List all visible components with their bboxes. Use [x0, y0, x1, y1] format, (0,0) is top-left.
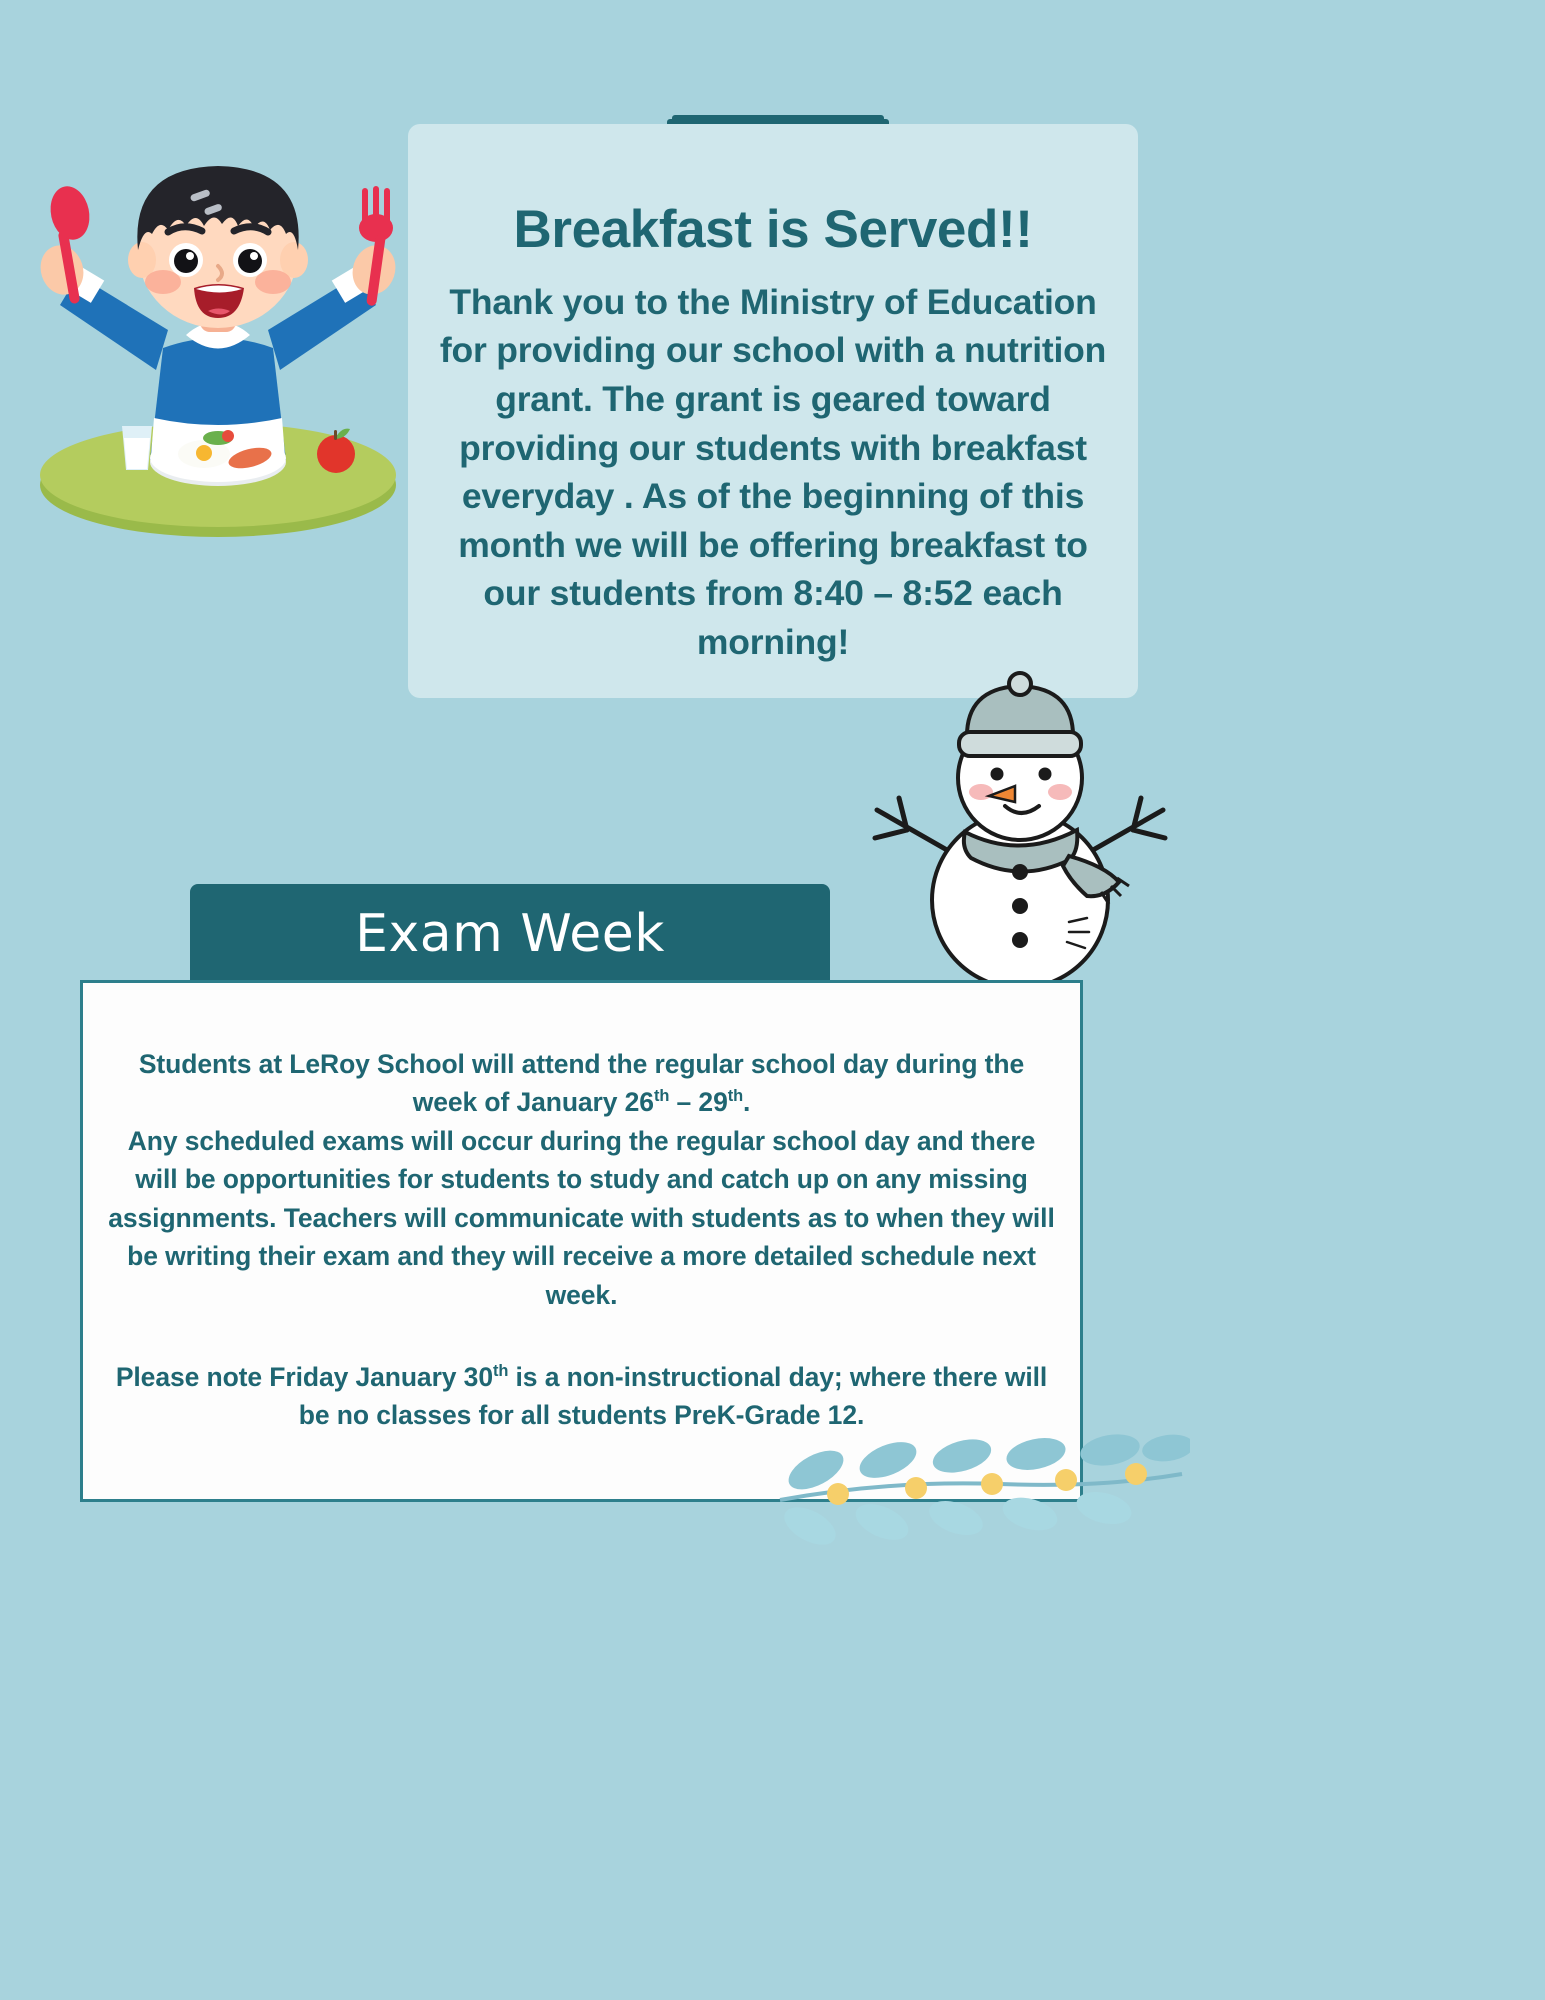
floral-branch-decoration — [770, 1422, 1190, 1552]
exam-para1-suffix: . — [743, 1087, 750, 1117]
snowman-illustration — [855, 660, 1185, 1000]
exam-para1-sup2: th — [728, 1088, 743, 1106]
breakfast-title: Breakfast is Served!! — [408, 124, 1138, 258]
breakfast-body-text: Thank you to the Ministry of Education f… — [408, 258, 1138, 667]
exam-paragraph-details: Any scheduled exams will occur during th… — [83, 1122, 1080, 1314]
breakfast-announcement-card: Breakfast is Served!! Thank you to the M… — [408, 124, 1138, 698]
exam-para3-sup: th — [493, 1362, 508, 1380]
exam-para3-prefix: Please note Friday January 30 — [116, 1362, 493, 1392]
exam-para1-sup1: th — [654, 1088, 669, 1106]
exam-para1-prefix: Students at LeRoy School will attend the… — [139, 1049, 1024, 1117]
exam-week-banner-label: Exam Week — [355, 904, 665, 964]
exam-week-banner: Exam Week — [190, 884, 830, 984]
boy-with-breakfast-tray-illustration — [18, 130, 418, 540]
exam-paragraph-noninstructional: Please note Friday January 30th is a non… — [83, 1314, 1080, 1435]
exam-paragraph-schedule: Students at LeRoy School will attend the… — [83, 983, 1080, 1122]
exam-para1-mid: – 29 — [669, 1087, 727, 1117]
